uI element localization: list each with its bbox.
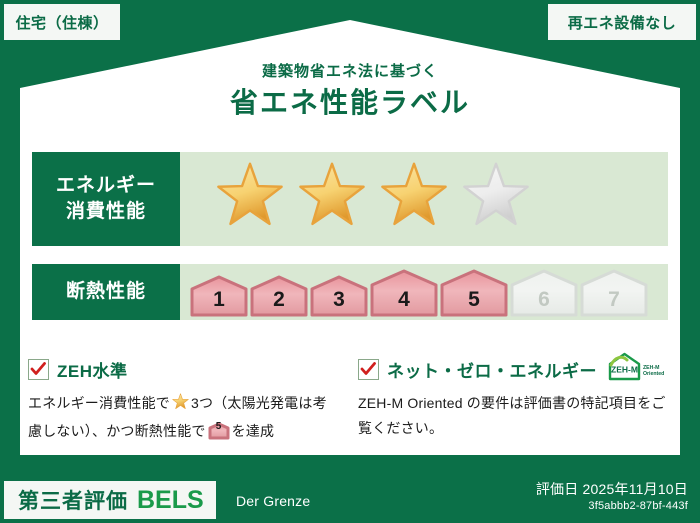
criteria-zeh-body-part3: を達成 xyxy=(232,423,275,439)
page-title: 省エネ性能ラベル xyxy=(0,85,700,121)
badge-building-type-label: 住宅（住棟） xyxy=(15,12,108,33)
star-filled-icon xyxy=(212,161,288,238)
footer-vendor-name: Der Grenze xyxy=(236,493,310,509)
footer-certificate-id: 3f5abbb2-87bf-443f xyxy=(536,499,688,514)
checkbox-checked-icon xyxy=(28,359,49,380)
insulation-grade-7: 7 xyxy=(580,269,648,317)
criteria-net-zero-energy: ネット・ゼロ・エネルギー ZEH-MZEH-MOriented ZEH-M Or… xyxy=(358,356,670,441)
insulation-grade-4: 4 xyxy=(370,269,438,317)
footer-date-value: 2025年11月10日 xyxy=(583,481,688,497)
metric-label-energy-consumption: エネルギー 消費性能 xyxy=(32,152,180,246)
footer-evaluation-date: 評価日 2025年11月10日 xyxy=(536,480,688,499)
badge-building-type: 住宅（住棟） xyxy=(4,4,120,40)
metric-label-insulation: 断熱性能 xyxy=(32,264,180,320)
page-title-block: 建築物省エネ法に基づく 省エネ性能ラベル xyxy=(0,62,700,121)
metric-label-insulation-text: 断熱性能 xyxy=(66,279,146,305)
insulation-grade-1: 1 xyxy=(190,275,248,317)
metric-label-energy-line2: 消費性能 xyxy=(56,199,156,225)
inline-grade-badge: 5 xyxy=(208,422,230,440)
criteria-zeh-header: ZEH水準 xyxy=(28,356,340,382)
star-filled-icon xyxy=(294,161,370,238)
svg-text:Oriented: Oriented xyxy=(643,371,664,377)
criteria-zeh-body-part1: エネルギー消費性能で xyxy=(28,395,170,411)
footer-evaluation-info: 評価日 2025年11月10日 3f5abbb2-87bf-443f xyxy=(536,480,688,514)
footer-date-label: 評価日 xyxy=(536,481,579,497)
metric-row-insulation: 断熱性能 1234567 xyxy=(32,264,668,320)
badge-renewable-label: 再エネ設備なし xyxy=(568,12,677,33)
svg-text:ZEH-M: ZEH-M xyxy=(611,364,638,374)
star-filled-icon xyxy=(376,161,452,238)
metric-row-energy-consumption: エネルギー 消費性能 xyxy=(32,152,668,246)
footer-third-party-label: 第三者評価 xyxy=(18,485,128,515)
footer-certification-badge: 第三者評価 BELS xyxy=(4,481,216,519)
star-empty-icon xyxy=(458,161,534,238)
criteria-netzero-body: ZEH-M Oriented の要件は評価書の特記項目をご覧ください。 xyxy=(358,391,670,441)
checkbox-checked-icon xyxy=(358,359,379,380)
energy-performance-label: 住宅（住棟） 再エネ設備なし 建築物省エネ法に基づく 省エネ性能ラベル エネルギ… xyxy=(0,0,700,523)
badge-renewable-equipment: 再エネ設備なし xyxy=(548,4,696,40)
energy-star-rating xyxy=(180,152,668,246)
criteria-zeh-body: エネルギー消費性能で3つ（太陽光発電は考慮しない）、かつ断熱性能で5を達成 xyxy=(28,391,340,444)
criteria-netzero-header: ネット・ゼロ・エネルギー ZEH-MZEH-MOriented xyxy=(358,356,670,382)
insulation-grade-2: 2 xyxy=(250,275,308,317)
inline-star-icon xyxy=(171,398,190,414)
zeh-m-oriented-logo: ZEH-MZEH-MOriented xyxy=(607,352,665,387)
metric-label-energy-line1: エネルギー xyxy=(56,173,156,199)
criteria-zeh-title: ZEH水準 xyxy=(57,357,128,382)
insulation-grade-5: 5 xyxy=(440,269,508,317)
criteria-zeh-standard: ZEH水準 エネルギー消費性能で3つ（太陽光発電は考慮しない）、かつ断熱性能で5… xyxy=(28,356,340,444)
footer-bels-label: BELS xyxy=(137,486,204,515)
criteria-netzero-title: ネット・ゼロ・エネルギー xyxy=(387,357,597,382)
insulation-grade-6: 6 xyxy=(510,269,578,317)
title-subheading: 建築物省エネ法に基づく xyxy=(0,62,700,82)
insulation-grade-3: 3 xyxy=(310,275,368,317)
insulation-grade-scale: 1234567 xyxy=(180,264,668,320)
